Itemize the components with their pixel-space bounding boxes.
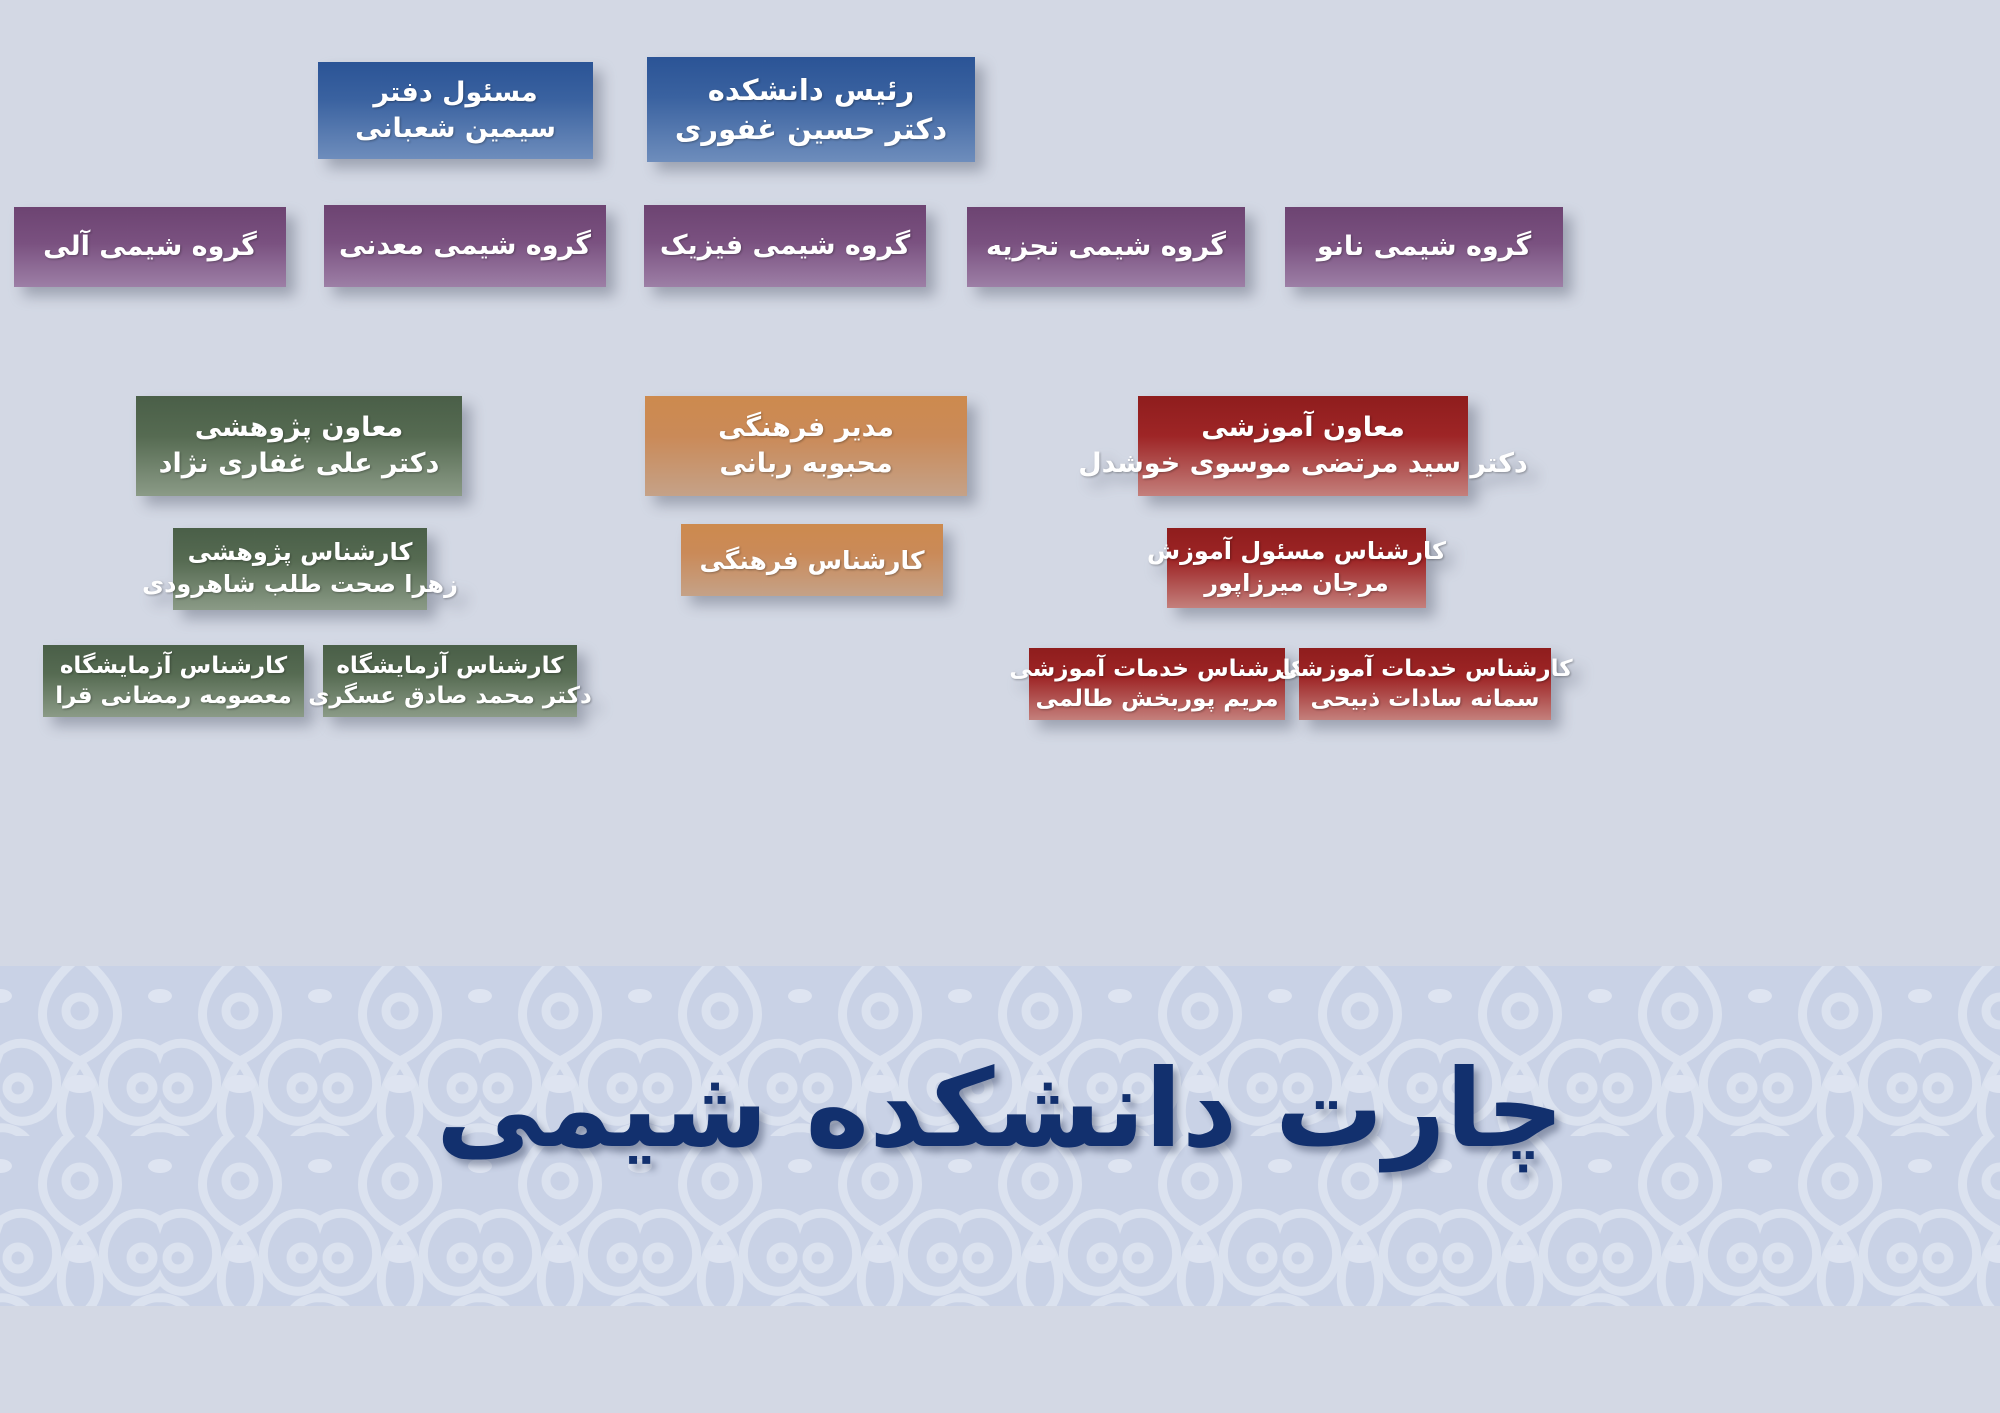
node-office-manager[interactable]: مسئول دفتر سیمین شعبانی [318,62,593,159]
node-role: کارشناس آزمایشگاه [336,651,563,681]
node-dept-analytical[interactable]: گروه شیمی تجزیه [967,207,1245,287]
node-education-head[interactable]: کارشناس مسئول آموزش مرجان میرزاپور [1167,528,1426,608]
node-role: گروه شیمی آلی [43,229,257,265]
node-role: کارشناس مسئول آموزش [1147,536,1446,568]
node-edu-service-2[interactable]: کارشناس خدمات آموزشی سمانه سادات ذبیحی [1299,648,1551,720]
node-person: دکتر علی غفاری نژاد [159,446,440,482]
node-dept-nano[interactable]: گروه شیمی نانو [1285,207,1563,287]
node-edu-service-1[interactable]: کارشناس خدمات آموزشی مریم پوربخش طالمی [1029,648,1285,720]
node-person: دکتر محمد صادق عسگری [308,681,592,711]
node-role: گروه شیمی معدنی [339,228,591,264]
node-role: مدیر فرهنگی [718,410,894,446]
node-role: رئیس دانشکده [708,71,914,109]
node-dept-inorganic[interactable]: گروه شیمی معدنی [324,205,606,287]
node-research-vice[interactable]: معاون پژوهشی دکتر علی غفاری نژاد [136,396,462,496]
node-person: سمانه سادات ذبیحی [1311,684,1540,714]
node-role: کارشناس آزمایشگاه [60,651,287,681]
node-person: سیمین شعبانی [355,111,556,147]
node-role: کارشناس خدمات آموزشی [1009,654,1304,684]
node-person: دکتر حسین غفوری [675,110,947,148]
node-person: دکتر سید مرتضی موسوی خوشدل [1078,446,1528,482]
node-dept-physical[interactable]: گروه شیمی فیزیک [644,205,926,287]
node-person: زهرا صحت طلب شاهرودی [142,569,458,601]
node-role: کارشناس پژوهشی [188,537,413,569]
node-role: معاون پژوهشی [195,410,404,446]
org-chart-canvas: مسئول دفتر سیمین شعبانی رئیس دانشکده دکت… [0,0,2000,1413]
node-role: گروه شیمی نانو [1317,229,1531,265]
node-role: مسئول دفتر [373,75,537,111]
node-role: کارشناس فرهنگی [700,544,925,577]
node-lab-expert-2[interactable]: کارشناس آزمایشگاه دکتر محمد صادق عسگری [323,645,577,717]
node-dept-organic[interactable]: گروه شیمی آلی [14,207,286,287]
node-role: معاون آموزشی [1201,410,1405,446]
node-cultural-expert[interactable]: کارشناس فرهنگی [681,524,943,596]
node-person: محبوبه ربانی [719,446,892,482]
node-research-expert[interactable]: کارشناس پژوهشی زهرا صحت طلب شاهرودی [173,528,427,610]
node-dean[interactable]: رئیس دانشکده دکتر حسین غفوری [647,57,975,162]
page-title: چارت دانشکده شیمی [0,1047,2000,1172]
node-person: مرجان میرزاپور [1204,568,1388,600]
node-person: معصومه رمضانی قرا [55,681,291,711]
node-education-vice[interactable]: معاون آموزشی دکتر سید مرتضی موسوی خوشدل [1138,396,1468,496]
node-role: کارشناس خدمات آموزشی [1277,654,1572,684]
node-lab-expert-1[interactable]: کارشناس آزمایشگاه معصومه رمضانی قرا [43,645,304,717]
node-person: مریم پوربخش طالمی [1036,684,1279,714]
node-role: گروه شیمی فیزیک [660,228,910,264]
node-role: گروه شیمی تجزیه [986,229,1226,265]
node-cultural-director[interactable]: مدیر فرهنگی محبوبه ربانی [645,396,967,496]
